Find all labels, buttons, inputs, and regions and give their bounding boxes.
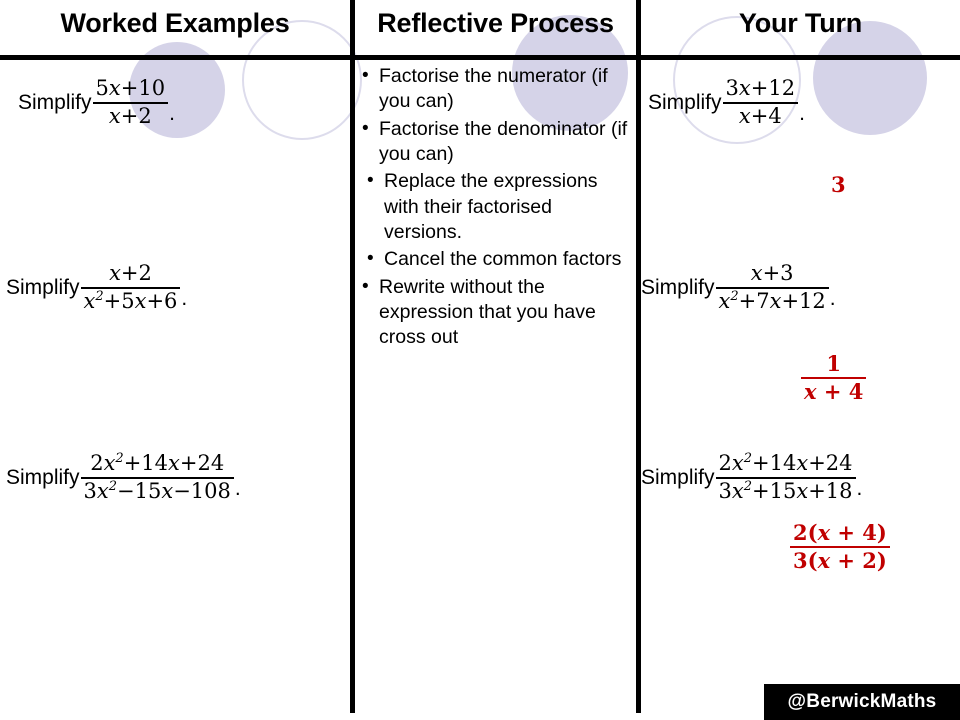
- your-turn-3-numerator: 2x2+14x+24: [716, 452, 856, 476]
- your-turn-1-numerator: 3x+12: [723, 77, 799, 101]
- header-divider-line: [0, 55, 960, 60]
- your-turn-question-3: Simplify 2x2+14x+24 3x2+15x+18 .: [641, 452, 862, 503]
- your-turn-answer-3-denominator: 3(x + 2): [790, 549, 890, 573]
- list-item: • Factorise the denominator (if you can): [362, 117, 632, 168]
- watermark-badge: @BerwickMaths: [764, 684, 960, 720]
- slide-canvas: Worked Examples Reflective Process Your …: [0, 0, 960, 720]
- reflective-step-5: Rewrite without the expression that you …: [379, 275, 632, 351]
- column-heading-your-turn: Your Turn: [641, 8, 960, 39]
- reflective-step-4: Cancel the common factors: [384, 247, 621, 272]
- worked-example-2-period: .: [181, 287, 187, 313]
- your-turn-1-label: Simplify: [648, 91, 722, 115]
- bullet-dot-icon: •: [362, 117, 379, 142]
- your-turn-3-denominator: 3x2+15x+18: [716, 480, 856, 504]
- worked-example-3-denominator: 3x2−15x−108: [81, 480, 234, 504]
- worked-example-1: Simplify 5x+10 x+2 .: [18, 77, 175, 128]
- worked-example-1-label: Simplify: [18, 91, 92, 115]
- bullet-dot-icon: •: [367, 169, 384, 194]
- worked-example-1-numerator: 5x+10: [93, 77, 169, 101]
- worked-example-3-numerator: 2x2+14x+24: [87, 452, 227, 476]
- reflective-step-2: Factorise the denominator (if you can): [379, 117, 632, 168]
- your-turn-2-label: Simplify: [641, 276, 715, 300]
- bullet-dot-icon: •: [362, 64, 379, 89]
- column-divider-right: [636, 0, 641, 713]
- your-turn-answer-2-fraction: 1 x + 4: [801, 352, 866, 403]
- your-turn-answer-2-numerator: 1: [823, 352, 844, 376]
- worked-example-2-denominator: x2+5x+6: [81, 290, 181, 314]
- list-item: • Replace the expressions with their fac…: [362, 169, 632, 245]
- worked-example-2: Simplify x+2 x2+5x+6 .: [6, 262, 187, 313]
- your-turn-1-period: .: [799, 102, 805, 128]
- worked-example-2-label: Simplify: [6, 276, 80, 300]
- your-turn-answer-2-denominator: x + 4: [801, 380, 866, 404]
- your-turn-2-period: .: [830, 287, 836, 313]
- worked-example-3-fraction: 2x2+14x+24 3x2−15x−108: [81, 452, 234, 503]
- your-turn-answer-3-fraction: 2(x + 4) 3(x + 2): [790, 521, 890, 572]
- worked-example-2-fraction: x+2 x2+5x+6: [81, 262, 181, 313]
- your-turn-3-label: Simplify: [641, 466, 715, 490]
- worked-example-3-period: .: [235, 477, 241, 503]
- your-turn-answer-2: 1 x + 4: [800, 352, 867, 403]
- watermark-handle: @BerwickMaths: [788, 691, 937, 713]
- your-turn-question-1: Simplify 3x+12 x+4 .: [648, 77, 805, 128]
- your-turn-answer-3-numerator: 2(x + 4): [790, 521, 890, 545]
- worked-example-2-numerator: x+2: [106, 262, 155, 286]
- column-heading-reflective-process: Reflective Process: [355, 8, 636, 39]
- list-item: • Cancel the common factors: [362, 247, 632, 272]
- reflective-step-3: Replace the expressions with their facto…: [384, 169, 632, 245]
- your-turn-2-fraction: x+3 x2+7x+12: [716, 262, 829, 313]
- your-turn-1-denominator: x+4: [736, 105, 785, 129]
- reflective-process-list: • Factorise the numerator (if you can) •…: [362, 64, 632, 353]
- your-turn-answer-1: 3: [831, 172, 846, 197]
- your-turn-3-fraction: 2x2+14x+24 3x2+15x+18: [716, 452, 856, 503]
- worked-example-1-period: .: [169, 102, 175, 128]
- your-turn-2-denominator: x2+7x+12: [716, 290, 829, 314]
- worked-example-3: Simplify 2x2+14x+24 3x2−15x−108 .: [6, 452, 241, 503]
- your-turn-1-fraction: 3x+12 x+4: [723, 77, 799, 128]
- worked-example-1-denominator: x+2: [106, 105, 155, 129]
- column-divider-left: [350, 0, 355, 713]
- list-item: • Factorise the numerator (if you can): [362, 64, 632, 115]
- reflective-step-1: Factorise the numerator (if you can): [379, 64, 632, 115]
- bullet-dot-icon: •: [362, 275, 379, 300]
- your-turn-answer-3: 2(x + 4) 3(x + 2): [789, 521, 891, 572]
- list-item: • Rewrite without the expression that yo…: [362, 275, 632, 351]
- your-turn-question-2: Simplify x+3 x2+7x+12 .: [641, 262, 836, 313]
- worked-example-1-fraction: 5x+10 x+2: [93, 77, 169, 128]
- your-turn-2-numerator: x+3: [748, 262, 797, 286]
- column-heading-worked-examples: Worked Examples: [0, 8, 350, 39]
- bullet-dot-icon: •: [367, 247, 384, 272]
- your-turn-3-period: .: [857, 477, 863, 503]
- worked-example-3-label: Simplify: [6, 466, 80, 490]
